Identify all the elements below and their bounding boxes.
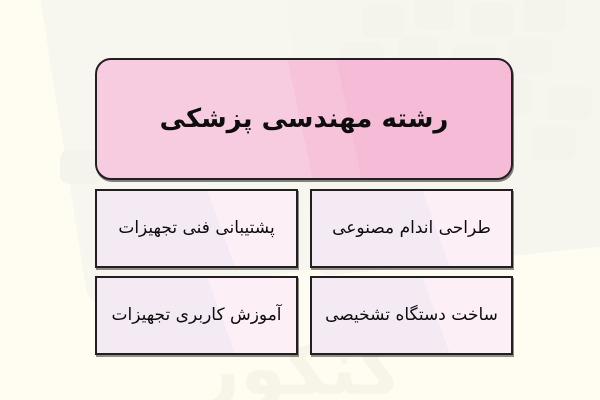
root-node-label: رشته مهندسی پزشکی [146, 103, 463, 136]
child-node-label: ساخت دستگاه تشخیصی [317, 304, 506, 326]
hierarchy-diagram: رشته مهندسی پزشکی طراحی اندام مصنوعی پشت… [0, 0, 600, 400]
child-node-prosthetic-design[interactable]: طراحی اندام مصنوعی [310, 189, 513, 268]
root-node-medical-engineering[interactable]: رشته مهندسی پزشکی [95, 58, 513, 180]
child-node-grid: طراحی اندام مصنوعی پشتیبانی فنی تجهیزات … [95, 189, 513, 355]
child-node-label: پشتیبانی فنی تجهیزات [110, 217, 282, 239]
child-node-diagnostic-device-manufacturing[interactable]: ساخت دستگاه تشخیصی [310, 276, 513, 355]
child-node-equipment-user-training[interactable]: آموزش کاربری تجهیزات [95, 276, 298, 355]
child-node-label: آموزش کاربری تجهیزات [103, 304, 289, 326]
child-node-label: طراحی اندام مصنوعی [324, 217, 499, 239]
child-node-technical-support[interactable]: پشتیبانی فنی تجهیزات [95, 189, 298, 268]
diagram-canvas: کنکور رشته مهندسی پزشکی طراحی اندام مصنو… [0, 0, 600, 400]
